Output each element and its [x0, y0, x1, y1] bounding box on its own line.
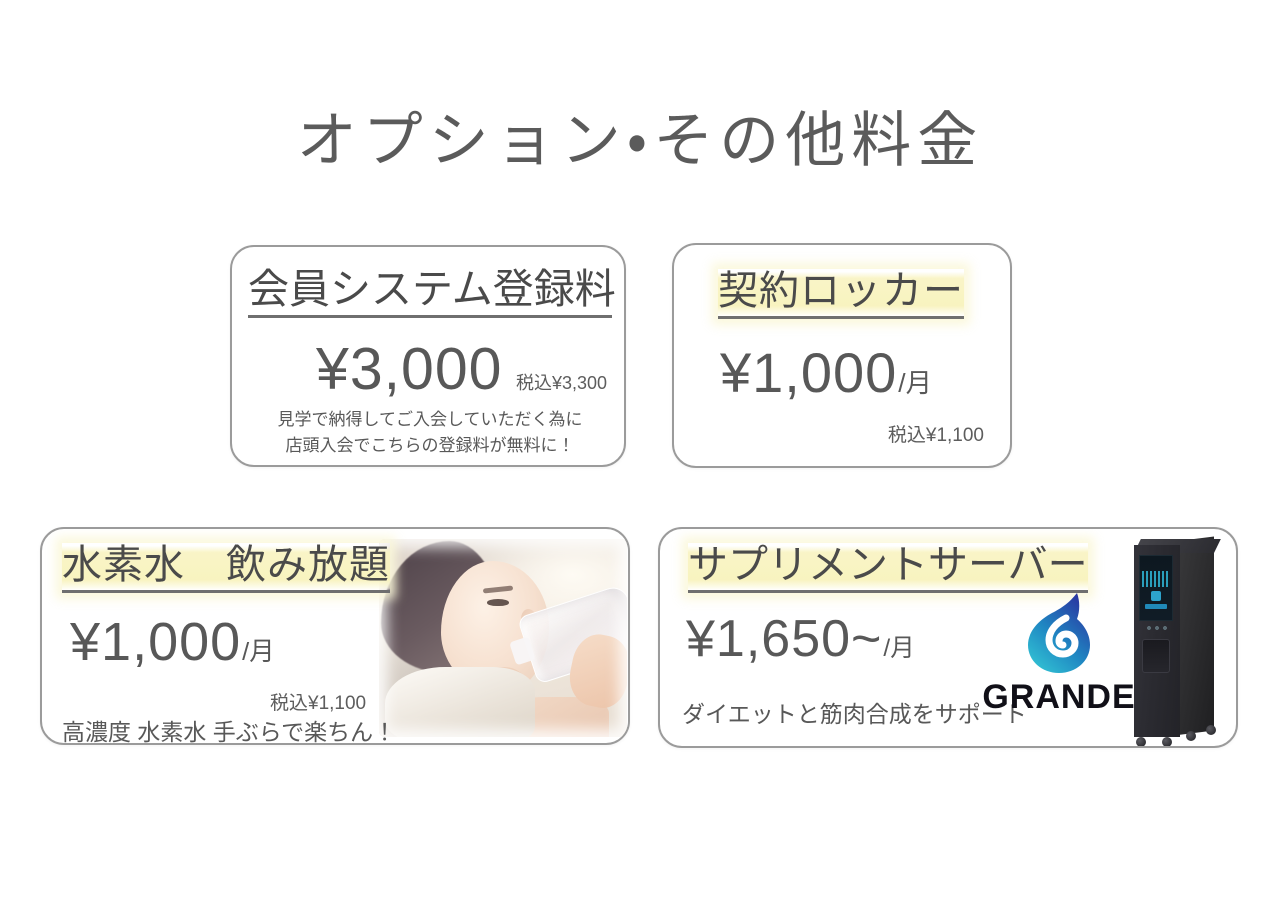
grande-wordmark: GRANDE: [978, 678, 1140, 717]
card-body: 水素水 飲み放題 ¥1,000 /月 税込¥1,100 高濃度 水素水 手ぶらで…: [42, 529, 628, 743]
machine-screen-graph: [1142, 571, 1170, 587]
card-title-supplement: サプリメントサーバー: [688, 543, 1088, 593]
price-amount: ¥1,650~: [686, 609, 882, 669]
price-amount: ¥1,000: [720, 340, 897, 405]
note-registration: 見学で納得してご入会していただく為に 店頭入会でこちらの登録料が無料に！: [248, 407, 612, 458]
card-body: サプリメントサーバー ¥1,650~ /月 ダイエットと筋肉合成をサポート: [660, 529, 1236, 746]
note-line-1: ダイエットと筋肉合成をサポート: [682, 697, 1027, 732]
note-hydrogen: 高濃度 水素水 手ぶらで楽ちん！: [62, 715, 396, 743]
card-contract-locker[interactable]: 契約ロッカー ¥1,000 /月 税込¥1,100: [672, 243, 1012, 468]
machine-indicator-lights: [1147, 626, 1167, 630]
page-title: オプション・その他料金: [0, 92, 1280, 179]
machine-caster: [1136, 737, 1146, 746]
grande-flame-icon: [1022, 591, 1096, 675]
note-line-2: 店頭入会でこちらの登録料が無料に！: [248, 433, 612, 459]
machine-side-panel: [1174, 537, 1214, 736]
price-amount: ¥3,000: [316, 335, 502, 403]
price-supplement: ¥1,650~ /月: [686, 609, 915, 669]
woman-drinking-water-photo: [379, 539, 627, 737]
card-body: 会員システム登録料 ¥3,000 税込¥3,300 見学で納得してご入会していた…: [232, 247, 624, 465]
card-registration-fee[interactable]: 会員システム登録料 ¥3,000 税込¥3,300 見学で納得してご入会していた…: [230, 245, 626, 467]
photo-eye: [487, 599, 509, 606]
machine-screen-tile: [1151, 591, 1161, 601]
note-line-1: 高濃度 水素水 手ぶらで楽ちん！: [62, 715, 396, 743]
supplement-server-machine: [1118, 531, 1230, 746]
price-amount: ¥1,000: [70, 611, 241, 673]
price-hydrogen: ¥1,000 /月: [70, 611, 275, 673]
tax-included-registration: 税込¥3,300: [516, 369, 607, 395]
note-line-1: 見学で納得してご入会していただく為に: [248, 407, 612, 433]
machine-screen: [1139, 555, 1173, 621]
machine-caster: [1186, 731, 1196, 741]
machine-dispenser-slot: [1142, 639, 1170, 673]
card-title-registration: 会員システム登録料: [248, 267, 612, 318]
grande-logo: GRANDE: [978, 591, 1140, 719]
card-hydrogen-water[interactable]: 水素水 飲み放題 ¥1,000 /月 税込¥1,100 高濃度 水素水 手ぶらで…: [40, 527, 630, 745]
photo-towel: [385, 667, 535, 737]
tax-included-locker: 税込¥1,100: [888, 420, 984, 447]
note-supplement: ダイエットと筋肉合成をサポート: [682, 697, 1027, 732]
price-period: /月: [898, 361, 932, 400]
price-locker: ¥1,000 /月: [720, 340, 932, 405]
price-period: /月: [883, 629, 914, 664]
machine-screen-bar: [1145, 604, 1167, 609]
price-registration: ¥3,000: [316, 335, 502, 403]
card-title-locker: 契約ロッカー: [718, 269, 964, 319]
price-period: /月: [242, 632, 274, 668]
tax-included-hydrogen: 税込¥1,100: [270, 688, 366, 715]
slide-canvas: オプション・その他料金 会員システム登録料 ¥3,000 税込¥3,300 見学…: [0, 0, 1280, 900]
card-title-hydrogen: 水素水 飲み放題: [62, 543, 390, 593]
machine-caster: [1162, 737, 1172, 746]
card-body: 契約ロッカー ¥1,000 /月 税込¥1,100: [674, 245, 1010, 466]
machine-caster: [1206, 725, 1216, 735]
card-supplement-server[interactable]: サプリメントサーバー ¥1,650~ /月 ダイエットと筋肉合成をサポート: [658, 527, 1238, 748]
